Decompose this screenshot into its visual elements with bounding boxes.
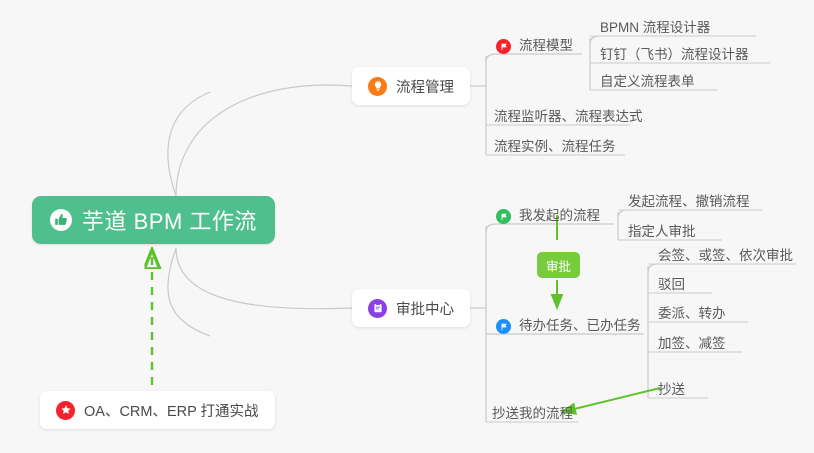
node-start-cancel-process-label: 发起流程、撤销流程 bbox=[628, 190, 750, 210]
star-icon bbox=[56, 401, 75, 420]
branch-approval-center[interactable]: 审批中心 bbox=[352, 289, 470, 327]
integration-card[interactable]: OA、CRM、ERP 打通实战 bbox=[40, 391, 275, 429]
link-root-left-top bbox=[168, 92, 210, 196]
node-cc-to-me[interactable]: 抄送我的流程 bbox=[490, 396, 577, 425]
node-todo-done-tasks-label: 待办任务、已办任务 bbox=[519, 314, 641, 334]
node-my-started-processes-label: 我发起的流程 bbox=[519, 204, 600, 224]
flag-icon bbox=[496, 209, 511, 224]
link-root-to-process-mgmt bbox=[176, 85, 352, 196]
node-start-cancel-process[interactable]: 发起流程、撤销流程 bbox=[626, 184, 754, 213]
node-dingtalk-designer-label: 钉钉（飞书）流程设计器 bbox=[600, 43, 749, 63]
node-process-listener-label: 流程监听器、流程表达式 bbox=[494, 105, 643, 125]
flag-icon bbox=[496, 319, 511, 334]
node-process-instance[interactable]: 流程实例、流程任务 bbox=[492, 129, 620, 158]
node-delegate-transfer[interactable]: 委派、转办 bbox=[656, 296, 730, 325]
node-add-remove-sign-label: 加签、减签 bbox=[658, 332, 726, 352]
node-process-instance-label: 流程实例、流程任务 bbox=[494, 135, 616, 155]
branch-approval-center-label: 审批中心 bbox=[396, 298, 454, 319]
lightbulb-icon bbox=[368, 77, 387, 96]
node-bpmn-designer[interactable]: BPMN 流程设计器 bbox=[598, 10, 714, 39]
integration-card-label: OA、CRM、ERP 打通实战 bbox=[84, 400, 259, 421]
node-cc-label: 抄送 bbox=[658, 378, 685, 398]
link-root-to-approval-center bbox=[176, 248, 352, 309]
root-node-label: 芋道 BPM 工作流 bbox=[82, 204, 257, 236]
node-process-model-label: 流程模型 bbox=[519, 34, 573, 54]
approval-badge[interactable]: 审批 bbox=[537, 252, 580, 278]
node-delegate-transfer-label: 委派、转办 bbox=[658, 302, 726, 322]
node-add-remove-sign[interactable]: 加签、减签 bbox=[656, 326, 730, 355]
node-assignee-approval-label: 指定人审批 bbox=[628, 220, 696, 240]
root-node[interactable]: 芋道 BPM 工作流 bbox=[32, 196, 275, 244]
node-cc-to-me-label: 抄送我的流程 bbox=[492, 402, 573, 422]
node-todo-done-tasks[interactable]: 待办任务、已办任务 bbox=[494, 308, 645, 337]
branch-process-management[interactable]: 流程管理 bbox=[352, 67, 470, 105]
approval-badge-label: 审批 bbox=[546, 256, 571, 275]
node-my-started-processes[interactable]: 我发起的流程 bbox=[494, 198, 604, 227]
node-process-listener[interactable]: 流程监听器、流程表达式 bbox=[492, 99, 647, 128]
link-root-left-bottom bbox=[168, 248, 210, 336]
node-bpmn-designer-label: BPMN 流程设计器 bbox=[600, 16, 710, 36]
node-custom-form[interactable]: 自定义流程表单 bbox=[598, 64, 699, 93]
node-countersign[interactable]: 会签、或签、依次审批 bbox=[656, 238, 797, 267]
node-countersign-label: 会签、或签、依次审批 bbox=[658, 244, 793, 264]
node-reject-label: 驳回 bbox=[658, 273, 685, 293]
node-process-model[interactable]: 流程模型 bbox=[494, 28, 577, 57]
node-reject[interactable]: 驳回 bbox=[656, 267, 689, 296]
thumbs-up-icon bbox=[50, 209, 72, 231]
node-custom-form-label: 自定义流程表单 bbox=[600, 70, 695, 90]
node-cc[interactable]: 抄送 bbox=[656, 372, 689, 401]
node-dingtalk-designer[interactable]: 钉钉（飞书）流程设计器 bbox=[598, 37, 753, 66]
mindmap-canvas: 芋道 BPM 工作流 OA、CRM、ERP 打通实战 流程管理 bbox=[0, 0, 814, 453]
flag-icon bbox=[496, 39, 511, 54]
branch-process-management-label: 流程管理 bbox=[396, 76, 454, 97]
clipboard-icon bbox=[368, 299, 387, 318]
